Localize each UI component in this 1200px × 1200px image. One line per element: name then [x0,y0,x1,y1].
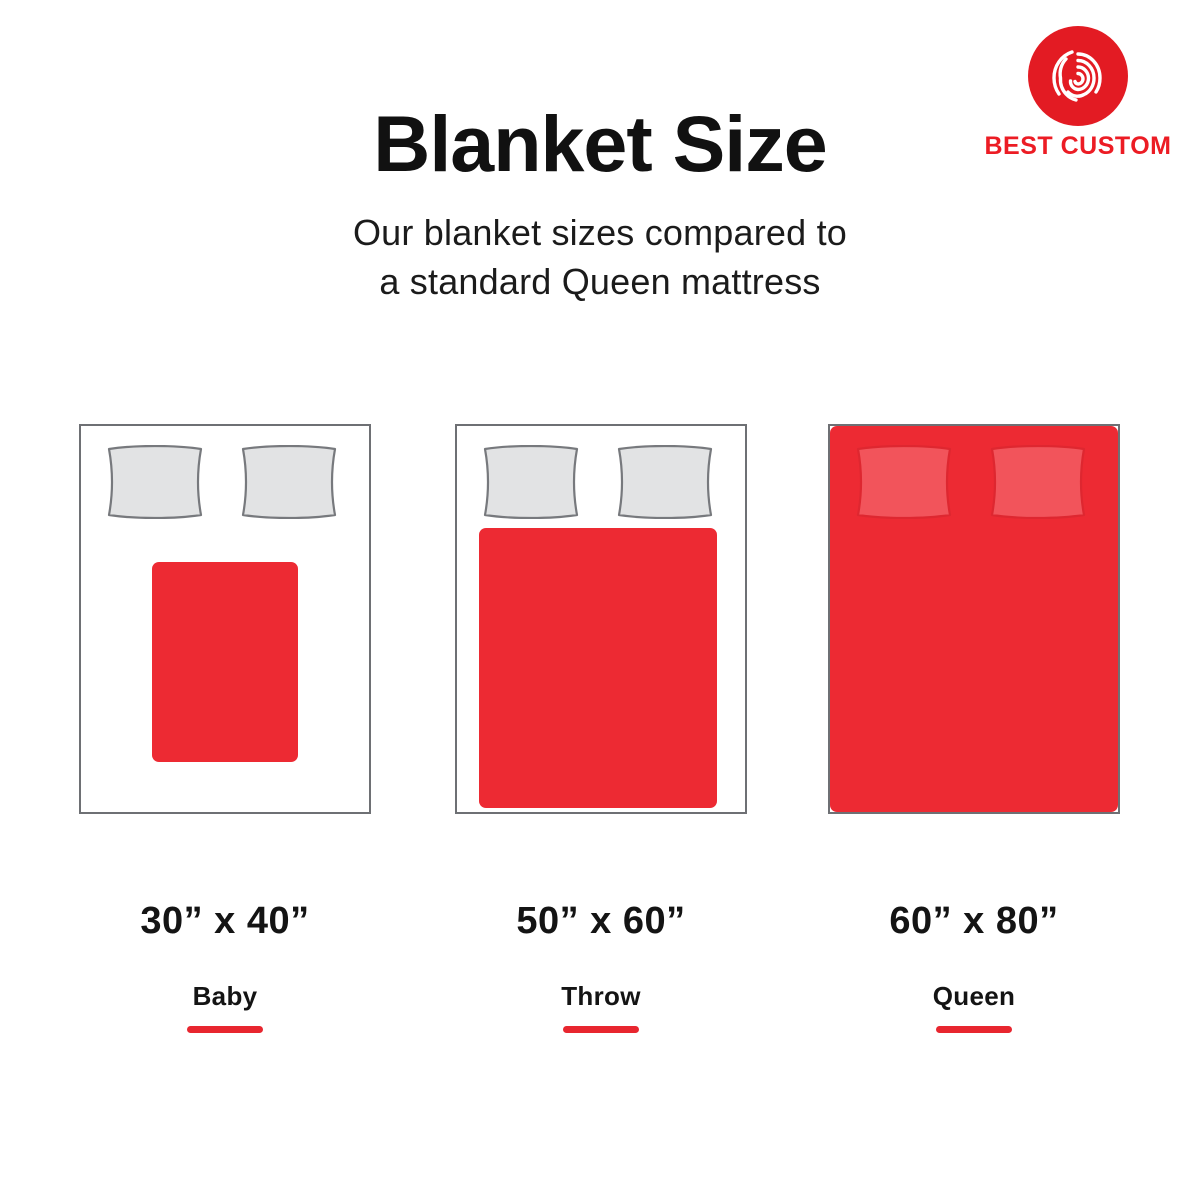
pillow-left [103,445,207,519]
bed-comparison-row [79,424,1120,814]
accent-underline [187,1026,263,1033]
size-label-throw: 50” x 60” Throw [455,900,747,1033]
size-name-text: Throw [455,981,747,1012]
page-title: Blanket Size [0,104,1200,183]
dimension-text: 30” x 40” [79,900,371,943]
size-name-text: Queen [828,981,1120,1012]
blanket-shape-throw [479,528,717,808]
dimension-text: 50” x 60” [455,900,747,943]
dimension-text: 60” x 80” [828,900,1120,943]
bed-diagram-queen [828,424,1120,814]
bed-diagram-baby [79,424,371,814]
pillow-left [479,445,583,519]
accent-underline [563,1026,639,1033]
size-label-queen: 60” x 80” Queen [828,900,1120,1033]
accent-underline [936,1026,1012,1033]
pillow-right-covered [986,445,1090,519]
pillow-left-covered [852,445,956,519]
blanket-shape-baby [152,562,298,762]
page-subtitle: Our blanket sizes compared to a standard… [0,209,1200,306]
subtitle-line-2: a standard Queen mattress [0,258,1200,307]
pillow-right [237,445,341,519]
bed-diagram-throw [455,424,747,814]
size-label-baby: 30” x 40” Baby [79,900,371,1033]
size-name-text: Baby [79,981,371,1012]
header: Blanket Size Our blanket sizes compared … [0,104,1200,306]
size-labels-row: 30” x 40” Baby 50” x 60” Throw 60” x 80”… [79,900,1120,1040]
pillow-right [613,445,717,519]
subtitle-line-1: Our blanket sizes compared to [0,209,1200,258]
